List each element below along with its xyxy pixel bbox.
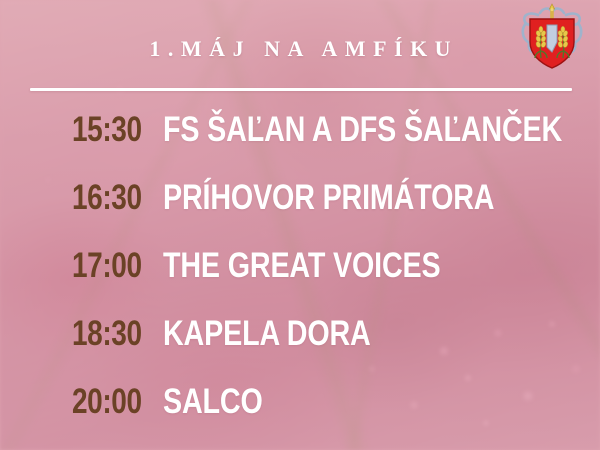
header-divider: [30, 88, 572, 91]
programme-name: PRÍHOVOR PRIMÁTORA: [163, 180, 521, 215]
programme-time: 16:30: [72, 180, 145, 215]
poster-title: 1.MÁJ NA AMFÍKU: [0, 38, 600, 60]
programme-name: FS ŠAĽAN A DFS ŠAĽANČEK: [163, 112, 562, 147]
programme-time: 20:00: [72, 384, 145, 419]
programme-name: THE GREAT VOICES: [163, 248, 521, 283]
programme-row: 15:30 FS ŠAĽAN A DFS ŠAĽANČEK: [0, 112, 600, 180]
programme-name: SALCO: [163, 384, 521, 419]
programme-row: 17:00 THE GREAT VOICES: [0, 248, 600, 316]
programme-row: 18:30 KAPELA DORA: [0, 316, 600, 384]
poster-header: 1.MÁJ NA AMFÍKU: [0, 0, 600, 104]
coat-of-arms-icon: [516, 2, 588, 72]
programme-row: 16:30 PRÍHOVOR PRIMÁTORA: [0, 180, 600, 248]
programme-name: KAPELA DORA: [163, 316, 521, 351]
programme-row: 20:00 SALCO: [0, 384, 600, 450]
poster-canvas: 1.MÁJ NA AMFÍKU: [0, 0, 600, 450]
programme-time: 15:30: [72, 112, 145, 147]
programme-time: 18:30: [72, 316, 145, 351]
programme-time: 17:00: [72, 248, 145, 283]
programme-list: 15:30 FS ŠAĽAN A DFS ŠAĽANČEK 16:30 PRÍH…: [0, 112, 600, 450]
